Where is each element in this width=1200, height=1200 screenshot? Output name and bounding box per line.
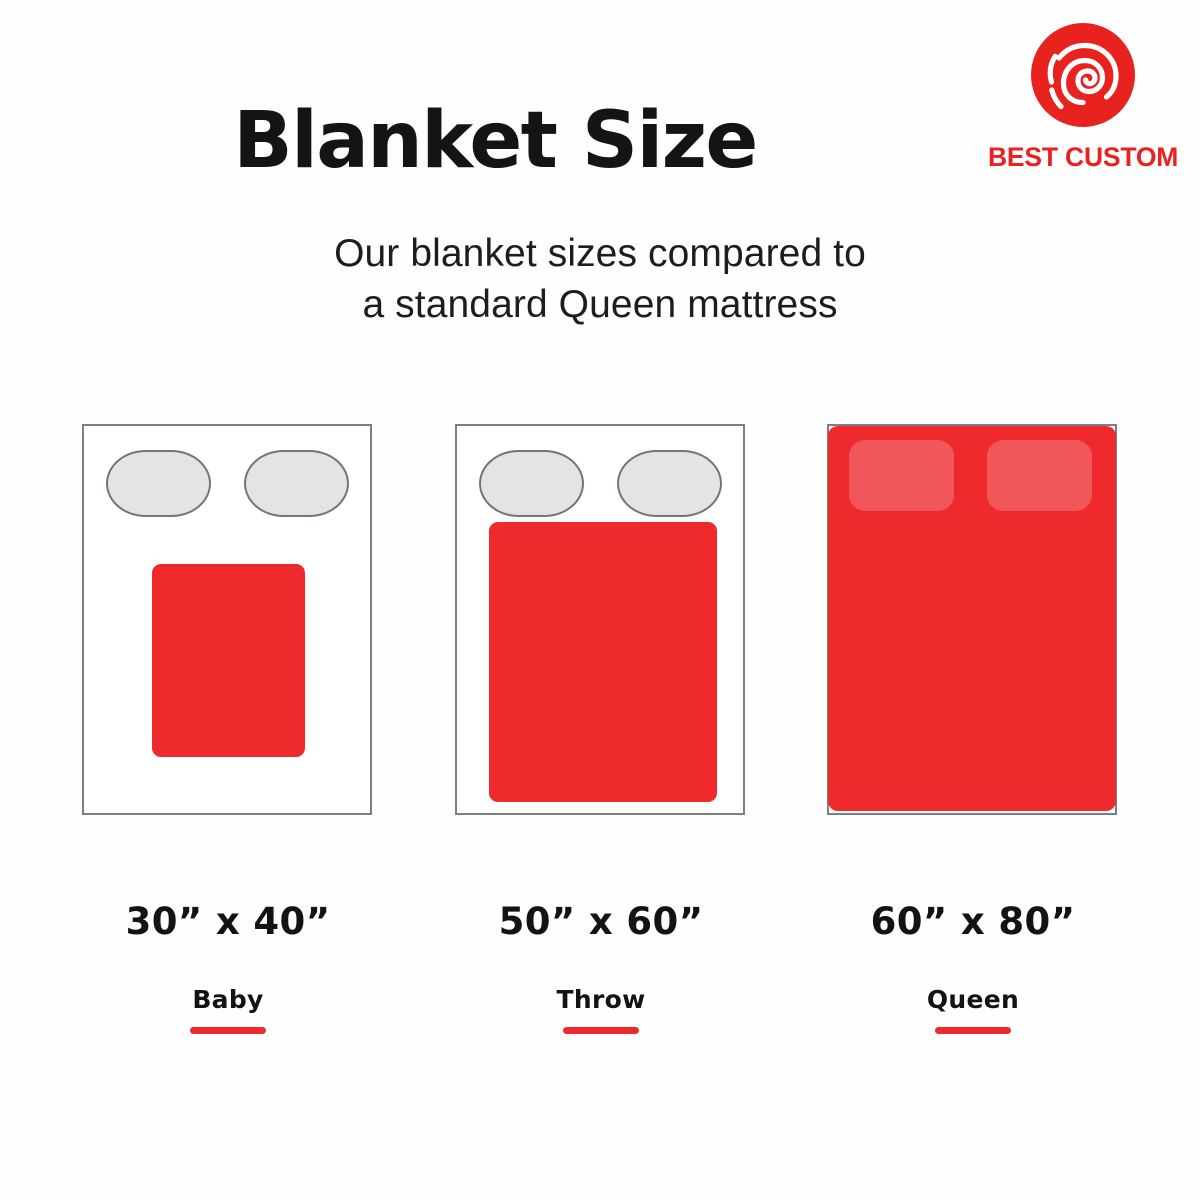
dimensions-label: 50” x 60” bbox=[455, 900, 747, 943]
accent-underline bbox=[190, 1027, 266, 1034]
blanket-shape-throw bbox=[489, 522, 717, 802]
caption-baby: 30” x 40” Baby bbox=[82, 900, 374, 1034]
pillow-icon bbox=[617, 450, 722, 517]
bed-diagram-baby bbox=[82, 424, 374, 815]
accent-underline bbox=[563, 1027, 639, 1034]
size-name-label: Queen bbox=[827, 985, 1119, 1014]
dimensions-label: 60” x 80” bbox=[827, 900, 1119, 943]
pillow-icon bbox=[479, 450, 584, 517]
mattress-outline bbox=[455, 424, 745, 815]
mattress-outline bbox=[827, 424, 1117, 815]
pillow-icon bbox=[849, 440, 954, 511]
size-name-label: Throw bbox=[455, 985, 747, 1014]
pillow-icon bbox=[987, 440, 1092, 511]
size-name-label: Baby bbox=[82, 985, 374, 1014]
bed-diagram-throw bbox=[455, 424, 747, 815]
caption-queen: 60” x 80” Queen bbox=[827, 900, 1119, 1034]
accent-underline bbox=[935, 1027, 1011, 1034]
pillow-icon bbox=[106, 450, 211, 517]
poster-canvas: BEST CUSTOM Blanket Size Our blanket siz… bbox=[0, 0, 1200, 1200]
dimensions-label: 30” x 40” bbox=[82, 900, 374, 943]
mattress-outline bbox=[82, 424, 372, 815]
caption-throw: 50” x 60” Throw bbox=[455, 900, 747, 1034]
blanket-shape-baby bbox=[152, 564, 305, 757]
bed-diagram-queen bbox=[827, 424, 1119, 815]
pillow-icon bbox=[244, 450, 349, 517]
